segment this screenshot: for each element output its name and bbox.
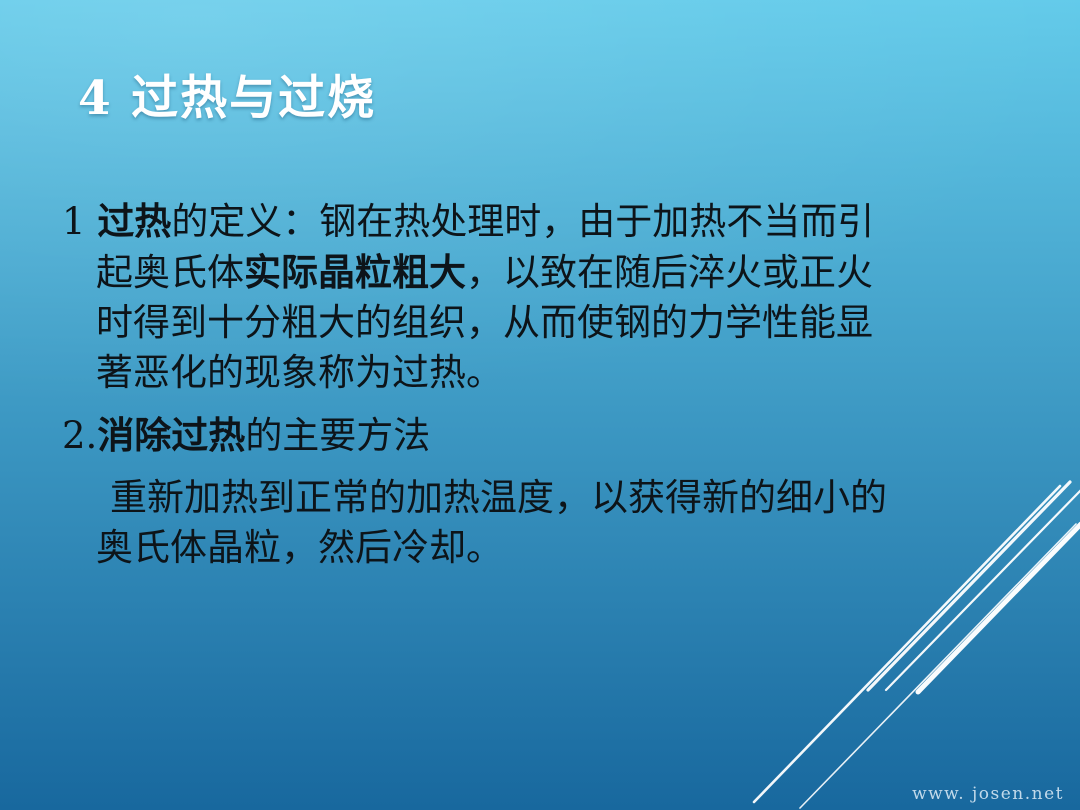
item-1-line-3: 时得到十分粗大的组织，从而使钢的力学性能显 [62, 298, 1022, 348]
answer-paragraph: 重新加热到正常的加热温度，以获得新的细小的 奥氏体晶粒，然后冷却。 [62, 473, 1022, 573]
item-1-line-2: 起奥氏体实际晶粒粗大，以致在随后淬火或正火 [62, 247, 1022, 298]
item-1-line-4-seg-1: 著恶化的现象称为过热。 [96, 351, 503, 394]
item-1-seg-2: 的定义：钢在热处理时，由于加热不当而引 [171, 200, 874, 243]
answer-line-1: 重新加热到正常的加热温度，以获得新的细小的 [62, 473, 1022, 523]
list-item-2: 2.消除过热的主要方法 [62, 410, 1022, 461]
item-1-line-2-seg-3: ，以致在随后淬火或正火 [466, 251, 873, 294]
paragraph-spacer-2 [62, 461, 1022, 473]
list-item-1: 1 过热的定义：钢在热处理时，由于加热不当而引 起奥氏体实际晶粒粗大，以致在随后… [62, 196, 1022, 398]
item-1-line-4: 著恶化的现象称为过热。 [62, 348, 1022, 398]
paragraph-spacer [62, 398, 1022, 410]
answer-line-1-text: 重新加热到正常的加热温度，以获得新的细小的 [110, 476, 887, 519]
answer-line-2: 奥氏体晶粒，然后冷却。 [62, 523, 1022, 573]
item-1-marker: 1 [62, 200, 86, 243]
item-1-line-3-seg-1: 时得到十分粗大的组织，从而使钢的力学性能显 [96, 301, 873, 344]
item-2-marker: 2. [62, 414, 97, 457]
item-2-seg-2: 的主要方法 [245, 414, 430, 457]
item-1-line-1: 1 过热的定义：钢在热处理时，由于加热不当而引 [62, 196, 1022, 247]
item-1-line-2-seg-1: 起奥氏体 [96, 251, 244, 294]
answer-line-2-text: 奥氏体晶粒，然后冷却。 [96, 526, 503, 569]
item-2-seg-1: 消除过热 [97, 413, 245, 457]
item-2-line-1: 2.消除过热的主要方法 [62, 410, 1022, 461]
page-title: 4 过热与过烧 [78, 72, 376, 126]
slide-canvas: 4 过热与过烧 1 过热的定义：钢在热处理时，由于加热不当而引 起奥氏体实际晶粒… [0, 0, 1080, 810]
site-watermark: www. josen.net [912, 784, 1064, 804]
item-1-seg-1: 过热 [97, 199, 171, 243]
item-1-line-2-seg-2: 实际晶粒粗大 [244, 250, 466, 294]
slide-body: 1 过热的定义：钢在热处理时，由于加热不当而引 起奥氏体实际晶粒粗大，以致在随后… [62, 196, 1022, 573]
